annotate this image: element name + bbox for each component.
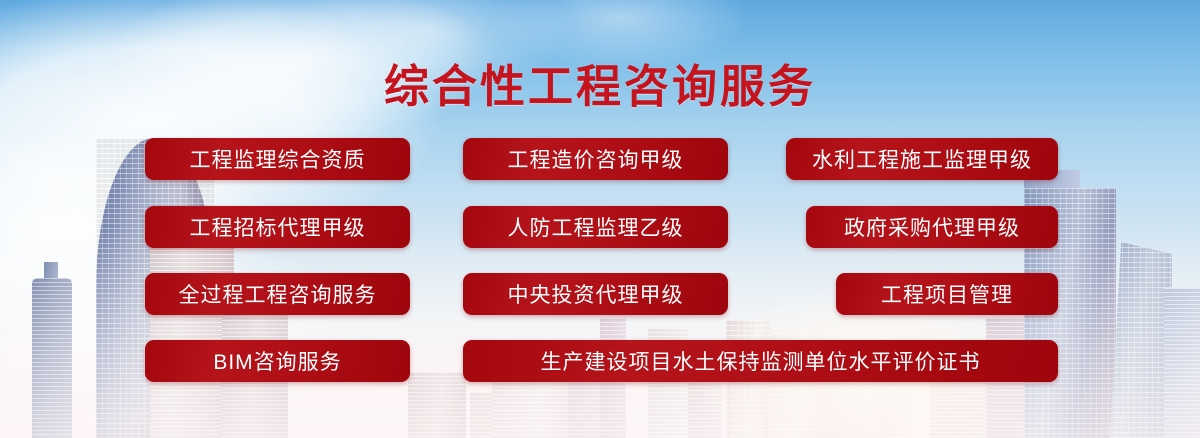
- badge-project-management[interactable]: 工程项目管理: [836, 273, 1058, 315]
- page-title: 综合性工程咨询服务: [0, 50, 1200, 115]
- badge-water-conservancy-supervision-grade-a[interactable]: 水利工程施工监理甲级: [786, 138, 1058, 180]
- banner-content: 综合性工程咨询服务 工程监理综合资质 工程造价咨询甲级 水利工程施工监理甲级 工…: [0, 0, 1200, 438]
- badge-whole-process-consulting[interactable]: 全过程工程咨询服务: [145, 273, 410, 315]
- badge-label: 生产建设项目水土保持监测单位水平评价证书: [541, 346, 981, 376]
- badge-civil-defense-supervision-grade-b[interactable]: 人防工程监理乙级: [463, 206, 728, 248]
- badge-engineering-supervision-comprehensive[interactable]: 工程监理综合资质: [145, 138, 410, 180]
- badge-label: 工程招标代理甲级: [190, 212, 366, 242]
- badge-label: BIM咨询服务: [213, 346, 341, 376]
- badge-label: 水利工程施工监理甲级: [812, 144, 1032, 174]
- badge-label: 工程造价咨询甲级: [508, 144, 684, 174]
- badge-label: 全过程工程咨询服务: [179, 279, 377, 309]
- badge-central-investment-agency-grade-a[interactable]: 中央投资代理甲级: [463, 273, 728, 315]
- badge-tender-agency-grade-a[interactable]: 工程招标代理甲级: [145, 206, 410, 248]
- badge-label: 工程监理综合资质: [190, 144, 366, 174]
- promotional-banner: 综合性工程咨询服务 工程监理综合资质 工程造价咨询甲级 水利工程施工监理甲级 工…: [0, 0, 1200, 438]
- badge-label: 政府采购代理甲级: [844, 212, 1020, 242]
- badge-label: 工程项目管理: [881, 279, 1013, 309]
- badge-label: 人防工程监理乙级: [508, 212, 684, 242]
- badge-soil-water-conservation-monitoring-certificate[interactable]: 生产建设项目水土保持监测单位水平评价证书: [463, 340, 1058, 382]
- badge-bim-consulting[interactable]: BIM咨询服务: [145, 340, 410, 382]
- badge-label: 中央投资代理甲级: [508, 279, 684, 309]
- badge-cost-consulting-grade-a[interactable]: 工程造价咨询甲级: [463, 138, 728, 180]
- badge-government-procurement-agency-grade-a[interactable]: 政府采购代理甲级: [806, 206, 1058, 248]
